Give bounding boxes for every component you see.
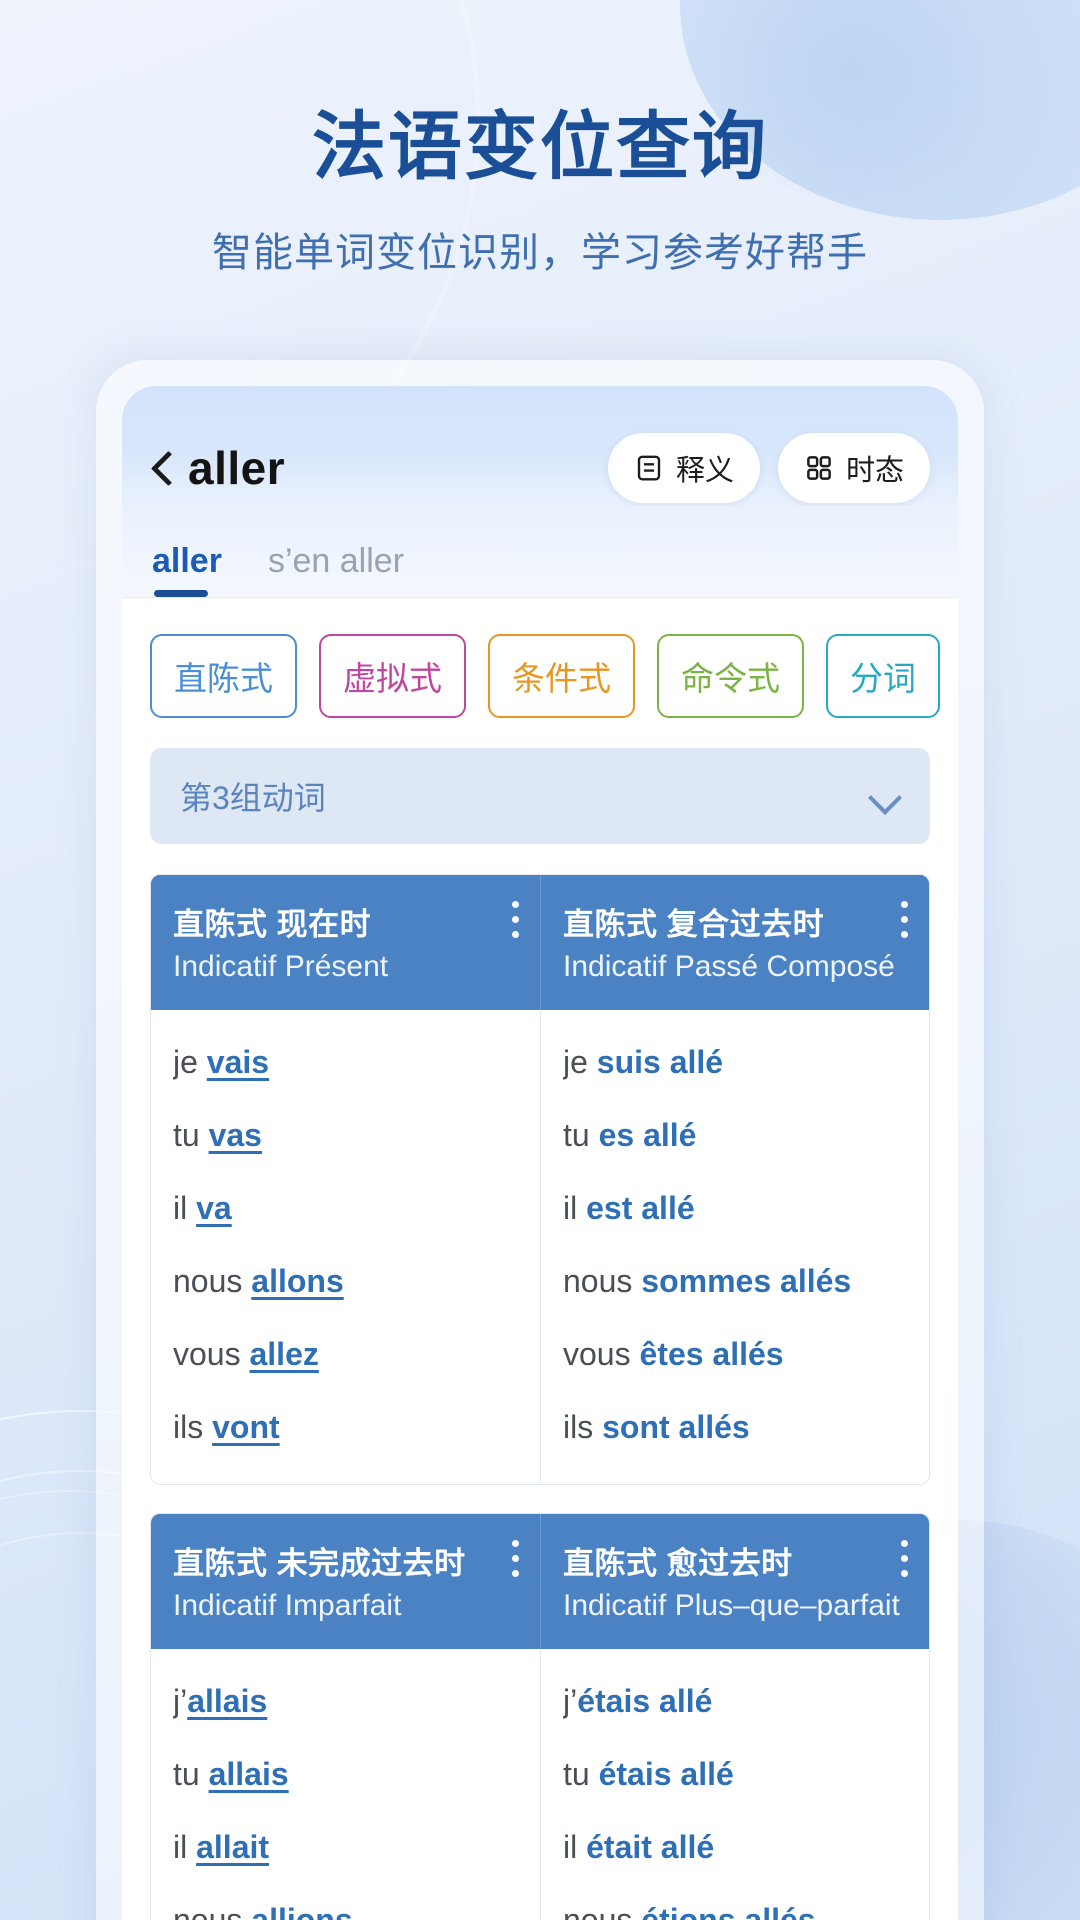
conjugation-column-left: je vaistu vasil vanous allonsvous allezi…: [151, 1010, 540, 1484]
tense-name-zh: 直陈式 未完成过去时: [173, 1538, 518, 1583]
verb-group-value: 第3组动词: [180, 773, 326, 819]
conjugation-row: je suis allé: [563, 1026, 907, 1099]
card-header-right: 直陈式 愈过去时Indicatif Plus–que–parfait: [540, 1514, 929, 1649]
tense-name-zh: 直陈式 愈过去时: [563, 1538, 907, 1583]
verb-form: était allé: [586, 1829, 714, 1865]
verb-form: suis allé: [597, 1044, 723, 1080]
definition-button-label: 释义: [676, 447, 734, 489]
pronoun: il: [173, 1829, 187, 1865]
conjugation-card: 直陈式 现在时Indicatif Présent直陈式 复合过去时Indicat…: [150, 874, 930, 1485]
verb-form: êtes allés: [639, 1336, 783, 1372]
card-header: 直陈式 未完成过去时Indicatif Imparfait直陈式 愈过去时Ind…: [151, 1514, 929, 1649]
pronoun: nous: [173, 1263, 242, 1299]
tab-aller[interactable]: aller: [152, 542, 222, 597]
conjugation-column-right: j’étais allétu étais alléil était alléno…: [540, 1649, 929, 1920]
conjugation-row: il va: [173, 1172, 518, 1245]
kebab-menu-icon[interactable]: [512, 901, 520, 941]
word-title: aller: [188, 441, 285, 495]
conjugation-row: nous étions allés: [563, 1884, 907, 1920]
chip-subjonctif[interactable]: 虚拟式: [319, 634, 466, 718]
tense-name-fr: Indicatif Imparfait: [173, 1589, 518, 1623]
chip-indicatif[interactable]: 直陈式: [150, 634, 297, 718]
chip-conditionnel[interactable]: 条件式: [488, 634, 635, 718]
pronoun: ils: [563, 1409, 593, 1445]
conjugation-row: nous allions: [173, 1884, 518, 1920]
verb-form: vont: [212, 1409, 280, 1445]
conjugation-column-left: j’allaistu allaisil allaitnous allions: [151, 1649, 540, 1920]
conjugation-row: j’allais: [173, 1665, 518, 1738]
conjugation-row: tu étais allé: [563, 1738, 907, 1811]
conjugation-row: tu vas: [173, 1099, 518, 1172]
tense-name-fr: Indicatif Passé Composé: [563, 950, 907, 984]
definition-button[interactable]: 释义: [608, 433, 760, 503]
verb-form: allez: [249, 1336, 318, 1372]
tense-name-fr: Indicatif Présent: [173, 950, 518, 984]
conjugation-row: j’étais allé: [563, 1665, 907, 1738]
card-header-right: 直陈式 复合过去时Indicatif Passé Composé: [540, 875, 929, 1010]
chevron-left-icon[interactable]: [150, 449, 172, 487]
conjugation-cards: 直陈式 现在时Indicatif Présent直陈式 复合过去时Indicat…: [122, 844, 958, 1920]
verb-form: est allé: [586, 1190, 695, 1226]
verb-form: vais: [207, 1044, 269, 1080]
kebab-menu-icon[interactable]: [901, 1540, 909, 1580]
pronoun: il: [173, 1190, 187, 1226]
verb-form: vas: [209, 1117, 262, 1153]
verb-tabs: aller s’en aller: [122, 506, 958, 598]
app-screen: aller 释义: [122, 386, 958, 1920]
conjugation-row: vous allez: [173, 1318, 518, 1391]
tab-sen-aller[interactable]: s’en aller: [268, 542, 404, 597]
verb-form: allait: [196, 1829, 269, 1865]
pronoun: j’: [563, 1683, 577, 1719]
chip-imperatif[interactable]: 命令式: [657, 634, 804, 718]
conjugation-row: tu allais: [173, 1738, 518, 1811]
tense-button-label: 时态: [846, 447, 904, 489]
verb-form: allais: [209, 1756, 289, 1792]
pronoun: je: [563, 1044, 588, 1080]
conjugation-card: 直陈式 未完成过去时Indicatif Imparfait直陈式 愈过去时Ind…: [150, 1513, 930, 1920]
pronoun: il: [563, 1190, 577, 1226]
page-title: 法语变位查询: [0, 108, 1080, 186]
tense-name-zh: 直陈式 复合过去时: [563, 899, 907, 944]
conjugation-row: nous allons: [173, 1245, 518, 1318]
card-body: je vaistu vasil vanous allonsvous allezi…: [151, 1010, 929, 1484]
verb-form: étais allé: [599, 1756, 734, 1792]
pronoun: tu: [173, 1756, 200, 1792]
pronoun: vous: [173, 1336, 241, 1372]
pronoun: il: [563, 1829, 577, 1865]
conjugation-row: vous êtes allés: [563, 1318, 907, 1391]
verb-form: allons: [251, 1263, 343, 1299]
kebab-menu-icon[interactable]: [901, 901, 909, 941]
conjugation-row: nous sommes allés: [563, 1245, 907, 1318]
conjugation-row: je vais: [173, 1026, 518, 1099]
header-row: aller 释义: [150, 430, 930, 506]
verb-form: allais: [187, 1683, 267, 1719]
card-body: j’allaistu allaisil allaitnous allionsj’…: [151, 1649, 929, 1920]
conjugation-row: ils sont allés: [563, 1391, 907, 1464]
pronoun: nous: [563, 1902, 632, 1920]
verb-form: sont allés: [602, 1409, 750, 1445]
pronoun: tu: [563, 1756, 590, 1792]
tense-name-zh: 直陈式 现在时: [173, 899, 518, 944]
conjugation-row: tu es allé: [563, 1099, 907, 1172]
pronoun: vous: [563, 1336, 631, 1372]
pronoun: tu: [173, 1117, 200, 1153]
app-header: aller 释义: [122, 386, 958, 506]
verb-form: es allé: [599, 1117, 697, 1153]
tense-name-fr: Indicatif Plus–que–parfait: [563, 1589, 907, 1623]
tense-button[interactable]: 时态: [778, 433, 930, 503]
pronoun: j’: [173, 1683, 187, 1719]
verb-form: allions: [251, 1902, 352, 1920]
verb-form: étais allé: [577, 1683, 712, 1719]
conjugation-row: il est allé: [563, 1172, 907, 1245]
kebab-menu-icon[interactable]: [512, 1540, 520, 1580]
chip-participe[interactable]: 分词: [826, 634, 940, 718]
card-header-left: 直陈式 现在时Indicatif Présent: [151, 875, 540, 1010]
phone-mockup: aller 释义: [96, 360, 984, 1920]
chevron-down-icon[interactable]: [870, 788, 900, 804]
header-actions: 释义 时态: [608, 433, 930, 503]
mood-chip-row: 直陈式 虚拟式 条件式 命令式 分词: [122, 598, 958, 748]
conjugation-column-right: je suis allétu es alléil est allénous so…: [540, 1010, 929, 1484]
conjugation-row: il était allé: [563, 1811, 907, 1884]
pronoun: nous: [563, 1263, 632, 1299]
verb-group-select[interactable]: 第3组动词: [150, 748, 930, 844]
definition-icon: [634, 453, 664, 483]
conjugation-row: il allait: [173, 1811, 518, 1884]
grid-icon: [804, 453, 834, 483]
pronoun: tu: [563, 1117, 590, 1153]
card-header-left: 直陈式 未完成过去时Indicatif Imparfait: [151, 1514, 540, 1649]
card-header: 直陈式 现在时Indicatif Présent直陈式 复合过去时Indicat…: [151, 875, 929, 1010]
pronoun: ils: [173, 1409, 203, 1445]
header-title-group: aller: [150, 441, 285, 495]
pronoun: je: [173, 1044, 198, 1080]
hero-section: 法语变位查询 智能单词变位识别，学习参考好帮手: [0, 0, 1080, 278]
pronoun: nous: [173, 1902, 242, 1920]
verb-form: sommes allés: [641, 1263, 851, 1299]
verb-form: étions allés: [641, 1902, 815, 1920]
verb-form: va: [196, 1190, 232, 1226]
promo-screen: 法语变位查询 智能单词变位识别，学习参考好帮手 aller: [0, 0, 1080, 1920]
conjugation-row: ils vont: [173, 1391, 518, 1464]
page-subtitle: 智能单词变位识别，学习参考好帮手: [0, 220, 1080, 278]
